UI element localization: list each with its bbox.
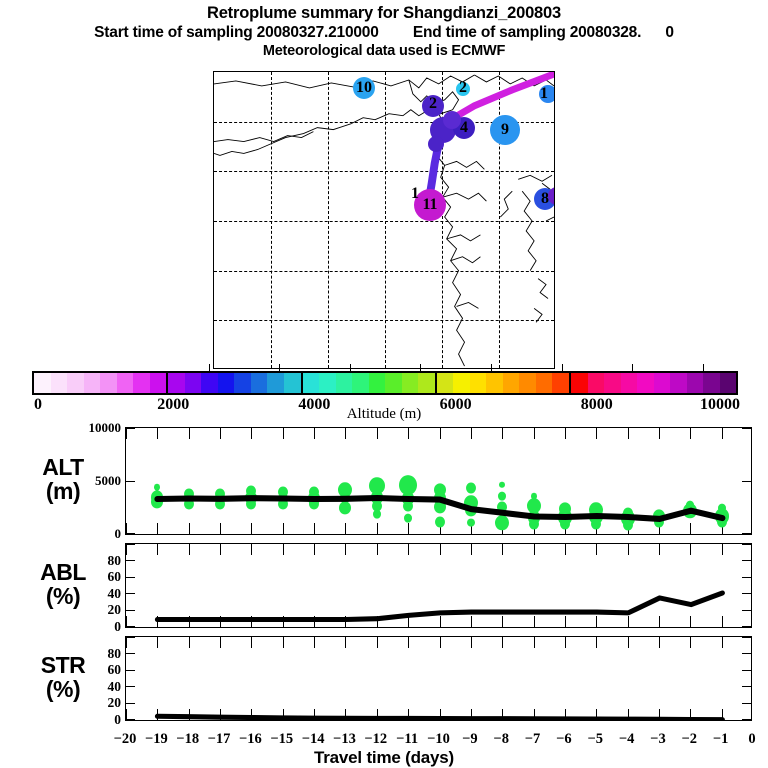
- x-axis-tick-label: −15: [270, 731, 293, 747]
- panel-title-line1: STR: [8, 653, 118, 677]
- x-axis-tick-label: −2: [682, 731, 698, 747]
- x-axis-tick-label: −19: [145, 731, 168, 747]
- x-axis-tick-label: −20: [114, 731, 137, 747]
- y-axis-tick-label: 0: [114, 619, 121, 635]
- series-overlay: [126, 637, 751, 720]
- panel-title-str: STR(%): [8, 653, 118, 701]
- x-axis-tick-label: −14: [302, 731, 325, 747]
- x-axis-tick-label: 0: [748, 731, 755, 747]
- retroplume-summary-figure: Retroplume summary for Shangdianzi_20080…: [0, 0, 768, 768]
- y-axis-tick-label: 10000: [89, 420, 122, 436]
- x-axis-tick-label: −5: [587, 731, 603, 747]
- timeseries-panel-alt: [125, 427, 752, 535]
- panel-title-line1: ALT: [8, 455, 118, 479]
- timeseries-panel-str: [125, 636, 752, 721]
- x-axis-tick-label: −9: [462, 731, 478, 747]
- x-axis-tick-labels: −20−19−18−17−16−15−14−13−12−11−10−9−8−7−…: [0, 731, 768, 749]
- panel-title-line2: (m): [8, 479, 118, 503]
- series-line: [157, 593, 722, 620]
- timeseries-panel-abl: [125, 543, 752, 628]
- x-axis-tick-label: −13: [333, 731, 356, 747]
- panel-title-line2: (%): [8, 584, 118, 608]
- x-axis-tick-label: −4: [619, 731, 635, 747]
- x-axis-tick-label: −18: [176, 731, 199, 747]
- series-overlay: [126, 544, 751, 627]
- y-axis-tick-label: 0: [114, 712, 121, 728]
- x-axis-tick-label: −17: [208, 731, 231, 747]
- x-axis-tick-label: −6: [556, 731, 572, 747]
- series-line: [157, 498, 722, 519]
- x-axis-tick-label: −8: [493, 731, 509, 747]
- x-axis-tick-label: −3: [650, 731, 666, 747]
- panel-title-line1: ABL: [8, 560, 118, 584]
- x-axis-tick-label: −7: [525, 731, 541, 747]
- x-axis-tick-label: −11: [396, 731, 418, 747]
- x-axis-title: Travel time (days): [0, 748, 768, 768]
- timeseries-panels: 0500010000ALT(m)020406080ABL(%)020406080…: [0, 0, 768, 768]
- panel-title-abl: ABL(%): [8, 560, 118, 608]
- series-line: [157, 716, 722, 719]
- x-axis-tick-label: −12: [364, 731, 387, 747]
- panel-title-line2: (%): [8, 677, 118, 701]
- panel-title-alt: ALT(m): [8, 455, 118, 503]
- x-axis-tick-label: −16: [239, 731, 262, 747]
- y-axis-tick-label: 0: [115, 526, 122, 542]
- x-axis-tick-label: −10: [427, 731, 450, 747]
- x-axis-tick-label: −1: [713, 731, 729, 747]
- series-overlay: [126, 428, 751, 534]
